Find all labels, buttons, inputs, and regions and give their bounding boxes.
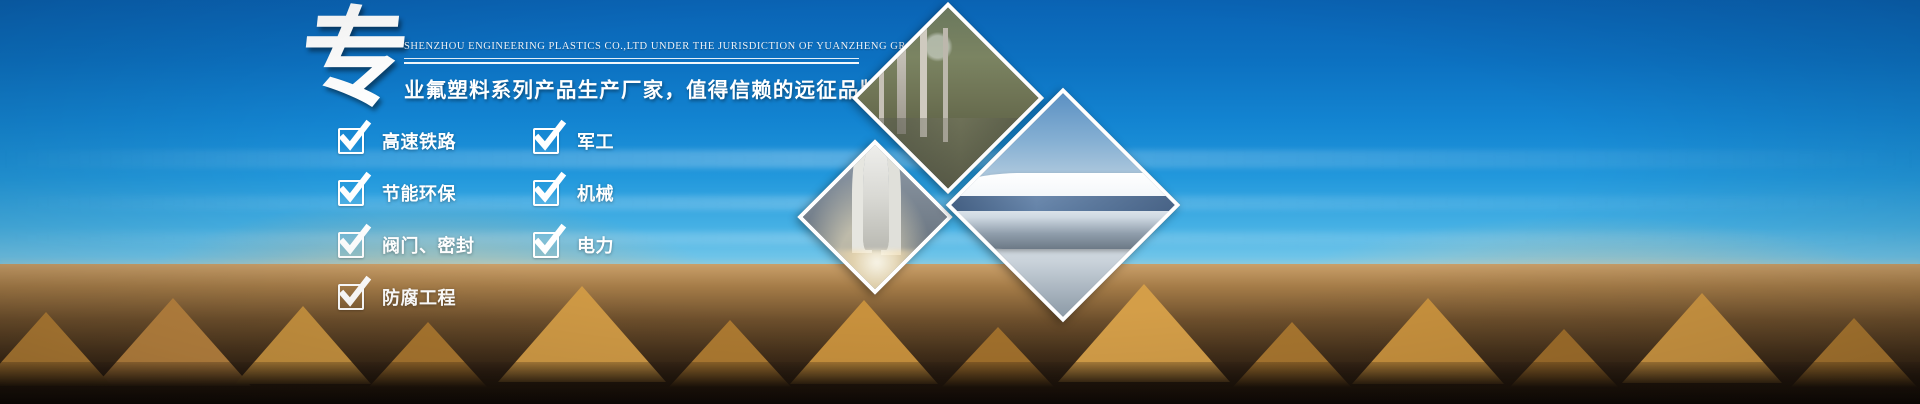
- divider-line-top: [404, 58, 859, 59]
- feature-item-anticorrosion[interactable]: 防腐工程: [338, 278, 475, 315]
- checkbox-checked-icon: [533, 232, 559, 258]
- banner-content: 专 SHENZHOU ENGINEERING PLASTICS CO.,LTD …: [0, 0, 1920, 404]
- divider-line-bottom: [404, 62, 859, 64]
- feature-label: 节能环保: [382, 180, 456, 206]
- feature-column-left: 高速铁路 节能环保 阀门、密封: [338, 122, 475, 330]
- checkbox-checked-icon: [338, 284, 364, 310]
- feature-label: 军工: [577, 128, 614, 154]
- feature-column-right: 军工 机械 电力: [533, 122, 614, 278]
- feature-item-electric-power[interactable]: 电力: [533, 226, 614, 263]
- feature-item-high-speed-rail[interactable]: 高速铁路: [338, 122, 475, 159]
- checkbox-checked-icon: [338, 180, 364, 206]
- feature-label: 阀门、密封: [382, 232, 475, 258]
- feature-item-energy-saving[interactable]: 节能环保: [338, 174, 475, 211]
- headline-block: SHENZHOU ENGINEERING PLASTICS CO.,LTD UN…: [404, 40, 884, 103]
- chinese-tagline: 业氟塑料系列产品生产厂家，值得信赖的远征品牌: [404, 73, 884, 103]
- photo-tile-group: [820, 30, 1240, 300]
- checkbox-checked-icon: [533, 128, 559, 154]
- checkbox-checked-icon: [533, 180, 559, 206]
- divider-rules: [404, 58, 859, 64]
- company-english-name: SHENZHOU ENGINEERING PLASTICS CO.,LTD UN…: [404, 40, 884, 54]
- feature-label: 电力: [577, 232, 614, 258]
- feature-item-valves-seals[interactable]: 阀门、密封: [338, 226, 475, 263]
- feature-item-machinery[interactable]: 机械: [533, 174, 614, 211]
- checkbox-checked-icon: [338, 232, 364, 258]
- checkbox-checked-icon: [338, 128, 364, 154]
- feature-label: 防腐工程: [382, 284, 456, 310]
- feature-item-military[interactable]: 军工: [533, 122, 614, 159]
- promo-banner: 专 SHENZHOU ENGINEERING PLASTICS CO.,LTD …: [0, 0, 1920, 404]
- feature-label: 机械: [577, 180, 614, 206]
- feature-label: 高速铁路: [382, 128, 456, 154]
